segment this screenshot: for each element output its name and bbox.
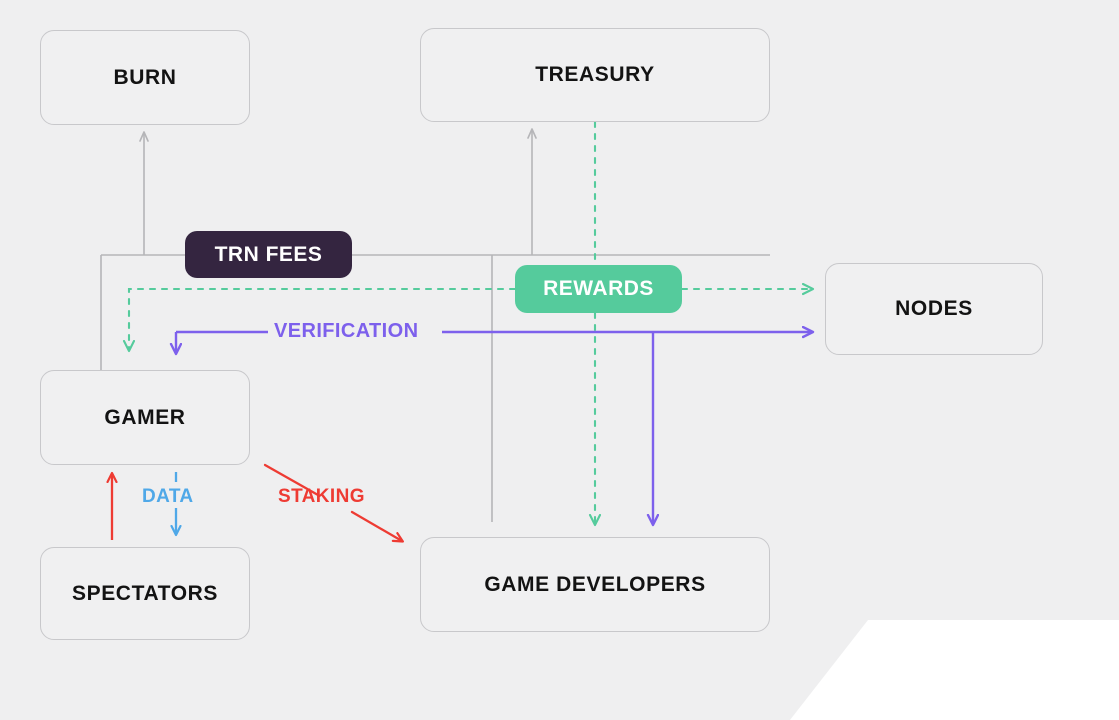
node-gamer-label: GAMER (104, 406, 185, 430)
badge-rewards[interactable]: REWARDS (515, 265, 682, 313)
node-treasury[interactable]: TREASURY (420, 28, 770, 122)
node-burn[interactable]: BURN (40, 30, 250, 125)
node-spectators[interactable]: SPECTATORS (40, 547, 250, 640)
node-treasury-label: TREASURY (535, 63, 655, 87)
edge-label-staking: STAKING (272, 486, 371, 508)
node-game-developers-label: GAME DEVELOPERS (484, 573, 705, 597)
node-nodes-label: NODES (895, 297, 973, 321)
wire-staking-lower (352, 512, 402, 541)
node-gamer[interactable]: GAMER (40, 370, 250, 465)
edge-label-verification: VERIFICATION (268, 320, 424, 343)
node-spectators-label: SPECTATORS (72, 582, 218, 606)
badge-trn-fees-label: TRN FEES (215, 243, 323, 267)
diagram-canvas: BURN TREASURY NODES GAMER SPECTATORS GAM… (0, 0, 1119, 720)
edge-label-data: DATA (136, 486, 200, 508)
node-burn-label: BURN (113, 66, 176, 90)
badge-trn-fees[interactable]: TRN FEES (185, 231, 352, 278)
badge-rewards-label: REWARDS (543, 277, 654, 301)
node-nodes[interactable]: NODES (825, 263, 1043, 355)
node-game-developers[interactable]: GAME DEVELOPERS (420, 537, 770, 632)
